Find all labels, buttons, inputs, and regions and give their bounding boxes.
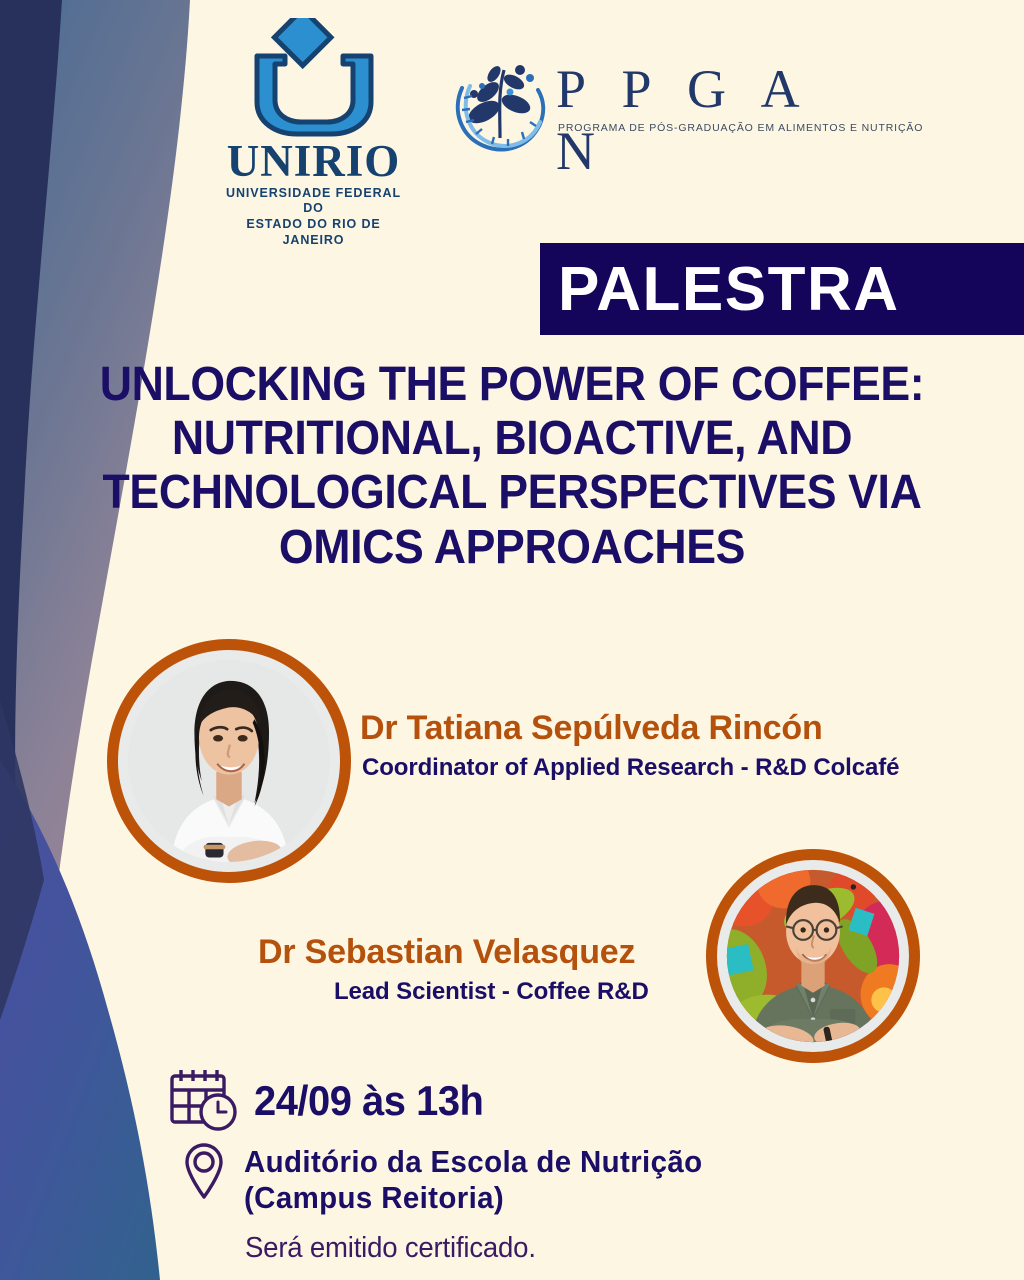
event-datetime-text: 24/09 às 13h [254,1077,483,1125]
event-location-line-2: (Campus Reitoria) [244,1180,703,1216]
portrait-woman-white-shirt [118,650,340,872]
lecture-title-line-1: UNLOCKING THE POWER OF COFFEE: [94,358,931,412]
event-datetime-row: 24/09 às 13h [168,1068,496,1134]
portrait-man-glasses-green-shirt [717,860,909,1052]
speaker-1-name: Dr Tatiana Sepúlveda Rincón [360,709,823,748]
unirio-wordmark: UNIRIO [216,140,411,183]
lecture-title-line-3: TECHNOLOGICAL PERSPECTIVES VIA [94,466,931,520]
speaker-1-avatar [107,639,351,883]
speaker-2-role: Lead Scientist - Coffee R&D [334,978,649,1006]
ppgan-logo: P P G A N PROGRAMA DE PÓS-GRADUAÇÃO EM A… [448,52,868,162]
calendar-clock-icon [168,1068,240,1134]
lecture-title-line-2: NUTRITIONAL, BIOACTIVE, AND [94,412,931,466]
lecture-title: UNLOCKING THE POWER OF COFFEE: NUTRITION… [94,358,931,575]
speaker-2-name: Dr Sebastian Velasquez [258,933,635,972]
ppgan-wordmark: P P G A N [556,58,868,182]
ppgan-subtitle: PROGRAMA DE PÓS-GRADUAÇÃO EM ALIMENTOS E… [558,122,923,134]
event-location-text: Auditório da Escola de Nutrição (Campus … [244,1144,703,1215]
lecture-title-line-4: OMICS APPROACHES [94,521,931,575]
unirio-u-emblem-icon [239,18,389,138]
speaker-2-avatar [706,849,920,1063]
unirio-subtitle-line2: ESTADO DO RIO DE JANEIRO [216,217,411,248]
palestra-label: PALESTRA [558,254,900,325]
unirio-logo: UNIRIO UNIVERSIDADE FEDERAL DO ESTADO DO… [216,18,411,248]
palestra-banner: PALESTRA [540,243,1024,335]
plant-dna-wreath-icon [448,54,552,158]
location-pin-icon [182,1142,226,1200]
certificate-note: Será emitido certificado. [245,1232,536,1265]
event-location-row: Auditório da Escola de Nutrição (Campus … [182,1142,727,1215]
event-poster: UNIRIO UNIVERSIDADE FEDERAL DO ESTADO DO… [0,0,1024,1280]
event-location-line-1: Auditório da Escola de Nutrição [244,1144,703,1180]
logo-row: UNIRIO UNIVERSIDADE FEDERAL DO ESTADO DO… [0,0,1024,220]
unirio-subtitle-line1: UNIVERSIDADE FEDERAL DO [216,186,411,217]
speaker-1-role: Coordinator of Applied Research - R&D Co… [362,754,899,782]
